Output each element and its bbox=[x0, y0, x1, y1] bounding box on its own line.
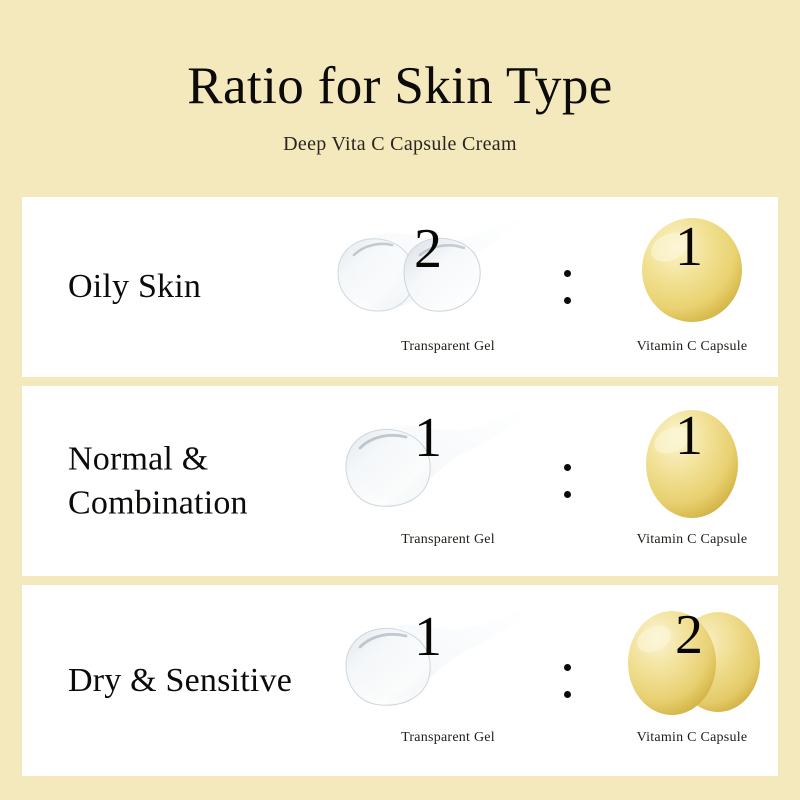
gel-amount: 2 bbox=[414, 221, 442, 277]
skin-type-label: Normal & Combination bbox=[68, 437, 348, 524]
capsule-amount: 2 bbox=[675, 607, 703, 663]
ratio-separator bbox=[564, 585, 571, 776]
skin-type-label: Dry & Sensitive bbox=[68, 659, 348, 703]
colon-dot-bottom bbox=[564, 297, 571, 304]
capsule-caption: Vitamin C Capsule bbox=[602, 339, 778, 355]
capsule-caption: Vitamin C Capsule bbox=[602, 532, 778, 548]
infographic-page: Ratio for Skin Type Deep Vita C Capsule … bbox=[0, 0, 800, 800]
ratio-separator bbox=[564, 197, 571, 377]
ratio-card-list: Oily Skin bbox=[22, 197, 778, 785]
capsule-column: 1 Vitamin C Capsule bbox=[602, 386, 778, 576]
gel-column: 1 Transparent Gel bbox=[332, 585, 542, 776]
colon-dot-top bbox=[564, 664, 571, 671]
colon-dot-top bbox=[564, 270, 571, 277]
page-title: Ratio for Skin Type bbox=[187, 58, 612, 115]
gel-amount: 1 bbox=[414, 410, 442, 466]
header: Ratio for Skin Type Deep Vita C Capsule … bbox=[0, 0, 800, 197]
colon-dot-bottom bbox=[564, 491, 571, 498]
gel-column: 1 Transparent Gel bbox=[332, 386, 542, 576]
gel-column: 2 Transparent Gel bbox=[332, 197, 542, 377]
capsule-caption: Vitamin C Capsule bbox=[602, 730, 778, 746]
ratio-row-oily-skin: Oily Skin bbox=[22, 197, 778, 377]
gel-caption: Transparent Gel bbox=[332, 339, 542, 355]
capsule-amount: 1 bbox=[675, 408, 703, 464]
capsule-column: 2 Vitamin C Capsule bbox=[602, 585, 778, 776]
ratio-row-normal-combination: Normal & Combination bbox=[22, 386, 778, 576]
page-subtitle: Deep Vita C Capsule Cream bbox=[283, 115, 517, 156]
capsule-amount: 1 bbox=[675, 219, 703, 275]
skin-type-label: Oily Skin bbox=[68, 265, 348, 309]
gel-caption: Transparent Gel bbox=[332, 730, 542, 746]
capsule-column: 1 Vitamin C Capsule bbox=[602, 197, 778, 377]
gel-caption: Transparent Gel bbox=[332, 532, 542, 548]
colon-dot-bottom bbox=[564, 691, 571, 698]
ratio-row-dry-sensitive: Dry & Sensitive bbox=[22, 585, 778, 776]
gel-blob-front-left bbox=[338, 239, 414, 311]
colon-dot-top bbox=[564, 464, 571, 471]
gel-amount: 1 bbox=[414, 609, 442, 665]
ratio-separator bbox=[564, 386, 571, 576]
